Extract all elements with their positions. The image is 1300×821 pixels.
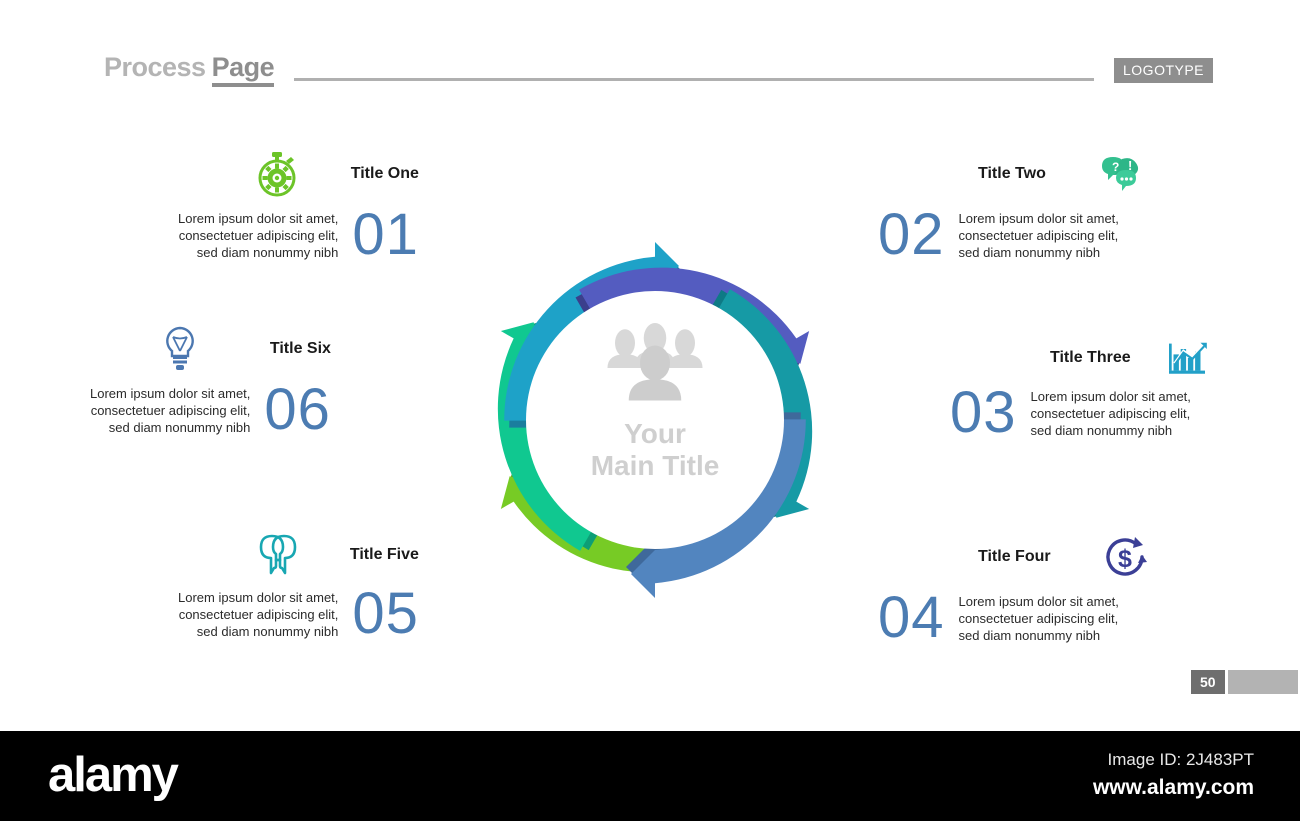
page-title: ProcessPage <box>104 52 274 83</box>
process-item-05-desc: Lorem ipsum dolor sit amet, consectetuer… <box>178 589 338 640</box>
process-item-05-title: Title Five <box>350 546 419 564</box>
svg-text:!: ! <box>1128 158 1132 173</box>
process-item-02[interactable]: Title Two ? ! 02 Lorem ipsum dolor sit a… <box>878 150 1144 264</box>
process-item-02-number: 02 <box>878 206 945 264</box>
alamy-image-id: Image ID: 2J483PT <box>1108 750 1254 770</box>
process-item-03-desc: Lorem ipsum dolor sit amet, consectetuer… <box>1031 388 1191 439</box>
center-main-title: Your Main Title <box>520 418 790 482</box>
stopwatch-gear-icon <box>253 150 301 198</box>
process-item-04-title: Title Four <box>978 548 1051 566</box>
logotype-badge: LOGOTYPE <box>1114 58 1213 83</box>
two-heads-icon <box>244 533 300 577</box>
process-item-03-number: 03 <box>950 384 1017 442</box>
page-number: 50 <box>1191 670 1225 694</box>
page-title-word-2: Page <box>212 52 275 87</box>
page-title-word-1: Process <box>104 52 206 82</box>
alamy-url: www.alamy.com <box>1093 776 1254 800</box>
alamy-watermark-bar: alamy Image ID: 2J483PT www.alamy.com <box>0 731 1300 821</box>
slide-canvas: ProcessPage LOGOTYPE <box>0 0 1300 731</box>
process-item-01[interactable]: Title One Lorem ipsum dolor sit amet, co… <box>178 150 419 264</box>
process-item-05-number: 05 <box>352 585 419 643</box>
process-item-03-title: Title Three <box>1050 349 1131 367</box>
process-item-04[interactable]: Title Four $ 04 Lorem ipsum dolor sit am… <box>878 533 1149 647</box>
process-item-06-number: 06 <box>264 381 331 439</box>
process-item-01-title: Title One <box>351 165 419 183</box>
process-item-05[interactable]: Title Five Lorem ipsum dolor sit amet, c… <box>178 533 419 643</box>
speech-bubbles-icon: ? ! <box>1096 150 1144 198</box>
alamy-logo: alamy <box>48 747 177 803</box>
bar-chart-icon <box>1165 340 1209 376</box>
process-item-06-desc: Lorem ipsum dolor sit amet, consectetuer… <box>90 385 250 436</box>
process-item-06-title: Title Six <box>270 340 331 358</box>
page-number-bar <box>1228 670 1298 694</box>
process-item-06[interactable]: Title Six Lorem ipsum dolor sit amet, co… <box>90 325 331 439</box>
process-item-02-desc: Lorem ipsum dolor sit amet, consectetuer… <box>959 210 1119 261</box>
process-item-01-desc: Lorem ipsum dolor sit amet, consectetuer… <box>178 210 338 261</box>
process-item-02-title: Title Two <box>978 165 1046 183</box>
page-number-group: 50 <box>1191 670 1298 694</box>
slide-header: ProcessPage LOGOTYPE <box>104 52 1204 94</box>
dollar-refresh-icon: $ <box>1101 533 1149 581</box>
header-divider-line <box>294 78 1094 81</box>
process-item-04-number: 04 <box>878 589 945 647</box>
process-item-03[interactable]: Title Three 03 Lorem ipsum dolor sit ame… <box>950 340 1209 442</box>
lightbulb-icon <box>160 325 200 373</box>
process-item-01-number: 01 <box>352 206 419 264</box>
process-item-04-desc: Lorem ipsum dolor sit amet, consectetuer… <box>959 593 1119 644</box>
svg-text:$: $ <box>1118 545 1132 573</box>
svg-text:?: ? <box>1112 160 1119 174</box>
